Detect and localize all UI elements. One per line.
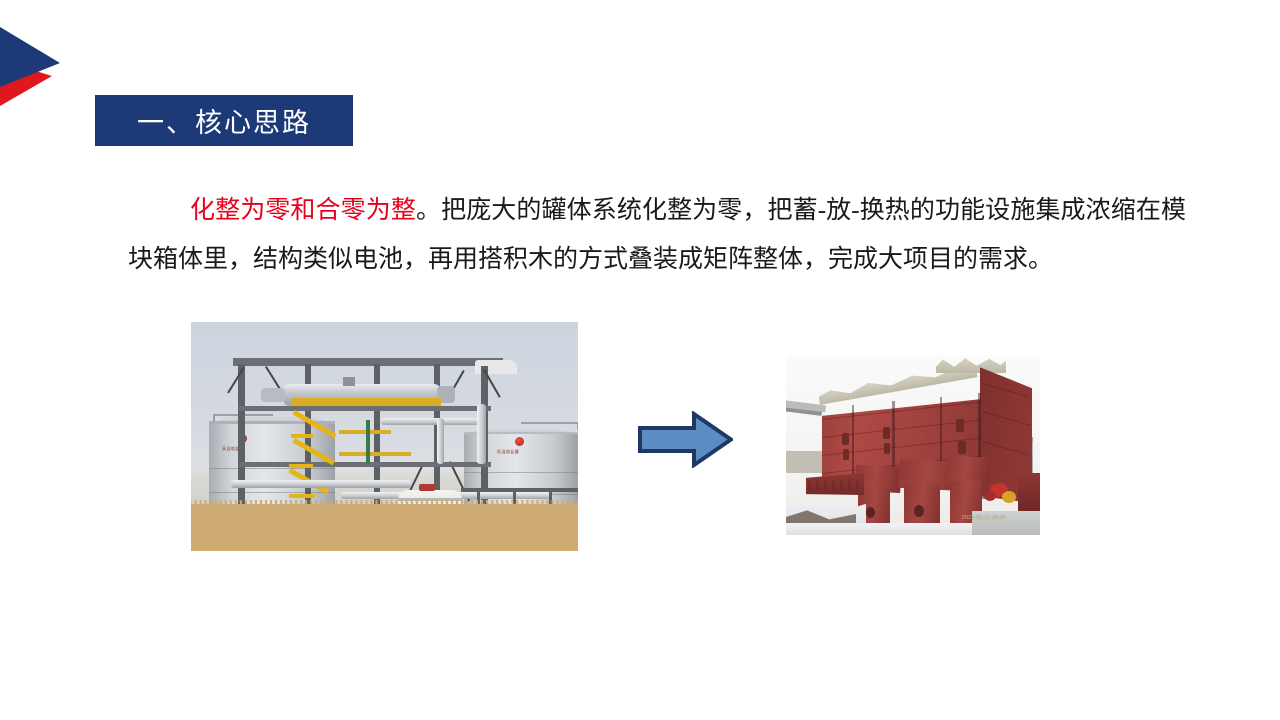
tank-right-logo-icon [515, 437, 524, 446]
vessel-nozzle [343, 377, 355, 386]
pedestal-port-1 [866, 507, 875, 518]
before-photo-scene: 高温熔盐罐 低温熔盐罐 [191, 322, 578, 551]
tank-left-seam-1 [209, 468, 335, 469]
tank-left-seam-2 [209, 492, 335, 493]
lifting-lug-4 [884, 443, 890, 454]
base-skirt-slots [808, 481, 862, 491]
skid-valve-icon [419, 484, 435, 491]
body-highlight: 化整为零和合零为整 [190, 197, 416, 224]
gantry-roof-beam [233, 358, 503, 366]
reed-tips [191, 500, 578, 516]
figure-before-photo: 高温熔盐罐 低温熔盐罐 [191, 322, 578, 551]
stair-landing-2 [289, 464, 313, 468]
stair-landing-3 [289, 494, 315, 498]
mid-deck-beam [239, 406, 491, 411]
corner-logo-svg [0, 16, 84, 108]
flow-arrow [638, 411, 733, 468]
lifting-lug-6 [958, 441, 966, 454]
lifting-lug-3 [883, 427, 890, 439]
flow-arrow-svg [638, 411, 733, 468]
process-pipe-2 [437, 418, 444, 464]
flow-arrow-shape [640, 414, 731, 465]
tank-right-label: 低温熔盐罐 [497, 449, 519, 455]
after-photo-scene: 2023-02-13 08:34 [786, 355, 1040, 535]
lifting-lug-2 [843, 449, 849, 460]
pedestal-port-2 [914, 505, 924, 517]
platform-rail-1 [339, 430, 391, 434]
distant-treeline [786, 451, 826, 473]
photo-timestamp-watermark: 2023-02-13 08:34 [962, 515, 1006, 521]
page-title: 一、核心思路 [95, 101, 311, 140]
column-1 [238, 364, 245, 514]
figure-after-photo: 2023-02-13 08:34 [786, 355, 1040, 535]
mid-deck-railing [291, 398, 441, 406]
ground-pipe-1 [231, 480, 411, 488]
process-pipe-3 [477, 404, 486, 464]
lifting-lug-5 [956, 419, 964, 432]
vessel-end-left [261, 388, 285, 402]
slide-canvas: 一、核心思路 化整为零和合零为整。把庞大的罐体系统化整为零，把蓄-放-换热的功能… [0, 0, 1280, 720]
equipment-red-2 [984, 491, 996, 501]
equipment-right-block [1018, 473, 1040, 513]
process-pipe-1 [381, 418, 485, 425]
section-title-banner: 一、核心思路 [95, 95, 353, 146]
equipment-yellow [1002, 491, 1016, 503]
stair-landing-1 [291, 434, 313, 438]
lower-deck-beam [239, 462, 491, 467]
corner-logo [0, 16, 84, 108]
green-pipe [366, 420, 370, 464]
platform-rail-2 [339, 452, 411, 456]
lifting-lug-1 [842, 433, 849, 445]
tank-right-handrail [521, 422, 578, 430]
body-paragraph: 化整为零和合零为整。把庞大的罐体系统化整为零，把蓄-放-换热的功能设施集成浓缩在… [128, 186, 1186, 284]
